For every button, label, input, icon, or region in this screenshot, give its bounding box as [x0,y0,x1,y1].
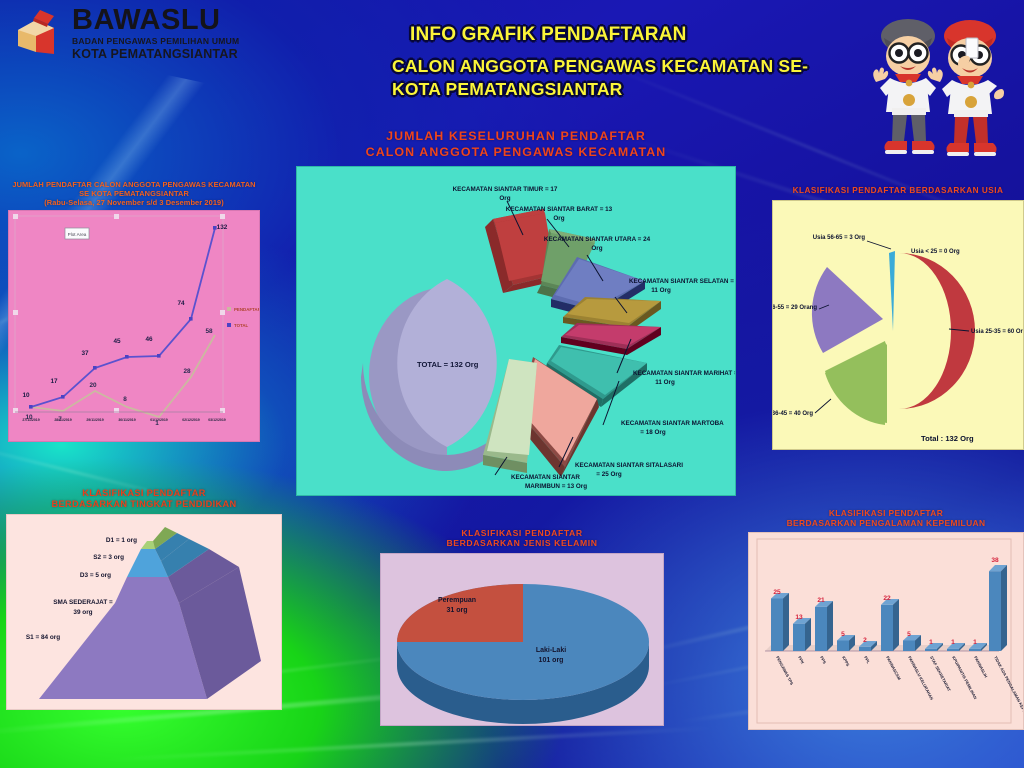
svg-text:29/11/2019: 29/11/2019 [86,418,103,422]
svg-text:KECAMATAN SIANTAR TIMUR = 17: KECAMATAN SIANTAR TIMUR = 17 [453,186,558,193]
svg-text:KECAMATAN SIANTAR SELATAN =: KECAMATAN SIANTAR SELATAN = [629,278,734,285]
svg-text:46-55 = 29 Orang: 46-55 = 29 Orang [773,305,817,311]
svg-text:S1 = 84 org: S1 = 84 org [26,634,60,641]
svg-text:KECAMATAN SIANTAR BARAT = 13: KECAMATAN SIANTAR BARAT = 13 [506,206,613,213]
svg-text:STAF SEKRETARIAT: STAF SEKRETARIAT [929,655,952,692]
bawaslu-logo: BAWASLU BADAN PENGAWAS PEMILIHAN UMUM KO… [14,6,254,62]
svg-text:10: 10 [22,392,30,399]
bar [989,565,1007,651]
svg-text:1: 1 [973,639,977,646]
svg-text:02/12/2019: 02/12/2019 [182,418,200,422]
svg-text:20: 20 [89,382,97,389]
svg-text:PPL: PPL [863,655,871,665]
bar [771,593,789,651]
chart-panel-pyramid-education: KLASIFIKASI PENDAFTAR BERDASARKAN TINGKA… [6,488,282,716]
logo-wordmark: BAWASLU [72,6,239,35]
headline-line-1: INFO GRAFIK PENDAFTARAN [392,22,852,48]
svg-text:11 Org: 11 Org [651,287,671,294]
svg-text:PANWASCAM: PANWASCAM [885,655,902,681]
svg-text:22: 22 [883,595,891,602]
plot-area-bar: 25 13 21 5 2 22 5 1 1 1 38 PENGAWAS TPS … [748,532,1024,730]
svg-text:KECAMATAN SIANTAR MARIHAT =: KECAMATAN SIANTAR MARIHAT = [633,370,735,377]
pie-slice-age-36-45 [825,341,887,425]
svg-text:13: 13 [795,614,803,621]
plot-area-pie-total: TOTAL = 132 Org [296,166,736,496]
svg-text:PENDAFTAR: PENDAFTAR [234,307,259,312]
svg-text:Usia 56-65 = 3 Org: Usia 56-65 = 3 Org [813,235,866,241]
two-mascot-characters-icon [862,4,1022,174]
svg-text:11 Org: 11 Org [655,379,675,386]
svg-text:Org: Org [499,195,510,202]
svg-text:01/12/2019: 01/12/2019 [150,418,168,422]
svg-text:30/11/2019: 30/11/2019 [118,418,135,422]
axis-tick: 27/11/2019 [22,418,39,422]
pie-total-label: TOTAL = 132 Org [417,360,479,369]
logo-subtitle-1: BADAN PENGAWAS PEMILIHAN UMUM [72,36,239,46]
svg-text:PPS: PPS [819,655,827,665]
svg-text:28: 28 [183,368,191,375]
chart-panel-line-registrations: JUMLAH PENDAFTAR CALON ANGGOTA PENGAWAS … [8,180,260,452]
svg-text:PANWASLIH: PANWASLIH [973,655,989,678]
svg-text:PANWASLU KELURAHAN: PANWASLU KELURAHAN [907,655,934,701]
chart-panel-pie-total: JUMLAH KESELURUHAN PENDAFTAR CALON ANGGO… [296,128,736,500]
pie-slice-age-46-55 [812,267,883,353]
pie-slice-age-25-35 [899,253,975,409]
svg-text:28/11/2019: 28/11/2019 [54,418,71,422]
svg-text:TIDAK ADA PENGALAMAN KEPEMILUA: TIDAK ADA PENGALAMAN KEPEMILUAN [993,655,1023,727]
svg-text:31 org: 31 org [446,607,467,614]
svg-text:5: 5 [907,631,911,638]
chart-title-bar-experience: KLASIFIKASI PENDAFTAR BERDASARKAN PENGAL… [748,508,1024,529]
svg-text:Org: Org [553,215,564,222]
svg-text:SMA SEDERAJAT =: SMA SEDERAJAT = [53,599,113,606]
svg-text:1: 1 [929,639,933,646]
svg-text:Usia 36-45 = 40 Org: Usia 36-45 = 40 Org [773,411,813,417]
bar [815,601,833,651]
svg-text:Total : 132 Org: Total : 132 Org [921,434,974,443]
svg-text:MARIMBUN = 13 Org: MARIMBUN = 13 Org [525,483,587,490]
svg-text:Plot Area: Plot Area [68,232,87,237]
svg-text:45: 45 [113,338,121,345]
svg-text:S2 = 3 org: S2 = 3 org [93,554,124,561]
page-title: INFO GRAFIK PENDAFTARAN CALON ANGGOTA PE… [392,22,852,102]
svg-text:17: 17 [50,378,58,385]
svg-text:KPPS: KPPS [841,655,851,667]
svg-text:Usia < 25 = 0 Org: Usia < 25 = 0 Org [911,249,960,255]
chart-panel-pie-age: KLASIFIKASI PENDAFTAR BERDASARKAN USIA [772,186,1024,454]
chart-title-pie-gender: KLASIFIKASI PENDAFTAR BERDASARKAN JENIS … [380,528,664,549]
svg-text:KECAMATAN SIANTAR: KECAMATAN SIANTAR [511,474,580,481]
svg-text:132: 132 [217,224,228,231]
svg-text:25: 25 [773,589,781,596]
svg-text:D1 = 1 org: D1 = 1 org [106,537,137,544]
svg-text:Org: Org [591,245,602,252]
headline-line-2: CALON ANGGOTA PENGAWAS KECAMATAN SE-KOTA… [392,55,852,102]
plot-area-pyramid: D1 = 1 org S2 = 3 org D3 = 5 org SMA SED… [6,514,282,710]
svg-text:KECAMATAN SIANTAR SITALASARI: KECAMATAN SIANTAR SITALASARI [575,462,683,469]
svg-text:21: 21 [817,597,825,604]
svg-text:KECAMATAN SIANTAR MARTOBA: KECAMATAN SIANTAR MARTOBA [621,420,724,427]
logo-subtitle-2: KOTA PEMATANGSIANTAR [72,47,239,61]
svg-text:PENGAWAS TPS: PENGAWAS TPS [775,655,795,686]
bar [881,599,899,651]
infographic-canvas: BAWASLU BADAN PENGAWAS PEMILIHAN UMUM KO… [0,0,1024,768]
svg-text:8: 8 [123,396,127,403]
svg-text:Usia 25-35 = 60 Org: Usia 25-35 = 60 Org [971,329,1023,335]
svg-text:101 org: 101 org [539,657,564,664]
plot-area-line: Plot Area 10 17 37 45 46 74 [8,210,260,442]
bar [793,618,811,651]
bawaslu-ballot-box-icon [14,8,68,60]
svg-text:TOTAL: TOTAL [234,323,249,328]
svg-text:46: 46 [145,336,153,343]
svg-text:PPK: PPK [797,655,805,665]
svg-text:74: 74 [177,300,185,307]
svg-text:KPU/PANITIA PEMILIHAN: KPU/PANITIA PEMILIHAN [951,655,978,700]
svg-text:5: 5 [841,631,845,638]
svg-text:03/12/2019: 03/12/2019 [208,418,226,422]
chart-title-pie-age: KLASIFIKASI PENDAFTAR BERDASARKAN USIA [772,186,1024,196]
svg-text:2: 2 [863,637,867,644]
svg-text:D3 = 5 org: D3 = 5 org [80,572,111,579]
svg-text:Perempuan: Perempuan [438,597,476,604]
plot-area-pie-gender: Perempuan 31 org Laki-Laki 101 org [380,553,664,726]
svg-text:58: 58 [205,328,213,335]
chart-title-pyramid-education: KLASIFIKASI PENDAFTAR BERDASARKAN TINGKA… [6,488,282,510]
svg-text:= 25 Org: = 25 Org [596,471,622,478]
svg-text:37: 37 [81,350,89,357]
svg-text:= 18 Org: = 18 Org [640,429,666,436]
chart-title-pie-total: JUMLAH KESELURUHAN PENDAFTAR CALON ANGGO… [296,128,736,160]
svg-text:KECAMATAN SIANTAR UTARA = 24: KECAMATAN SIANTAR UTARA = 24 [544,236,651,243]
chart-title-line-registrations: JUMLAH PENDAFTAR CALON ANGGOTA PENGAWAS … [8,180,260,207]
svg-text:1: 1 [951,639,955,646]
svg-text:39 org: 39 org [73,609,92,616]
plot-area-pie-age: Usia 56-65 = 3 Org 46-55 = 29 Orang Usia… [772,200,1024,450]
chart-panel-bar-experience: KLASIFIKASI PENDAFTAR BERDASARKAN PENGAL… [748,508,1024,734]
chart-panel-pie-gender: KLASIFIKASI PENDAFTAR BERDASARKAN JENIS … [380,528,664,732]
svg-text:Laki-Laki: Laki-Laki [536,647,566,654]
pie-slice-age-56-65 [889,251,895,331]
svg-text:38: 38 [991,557,999,564]
